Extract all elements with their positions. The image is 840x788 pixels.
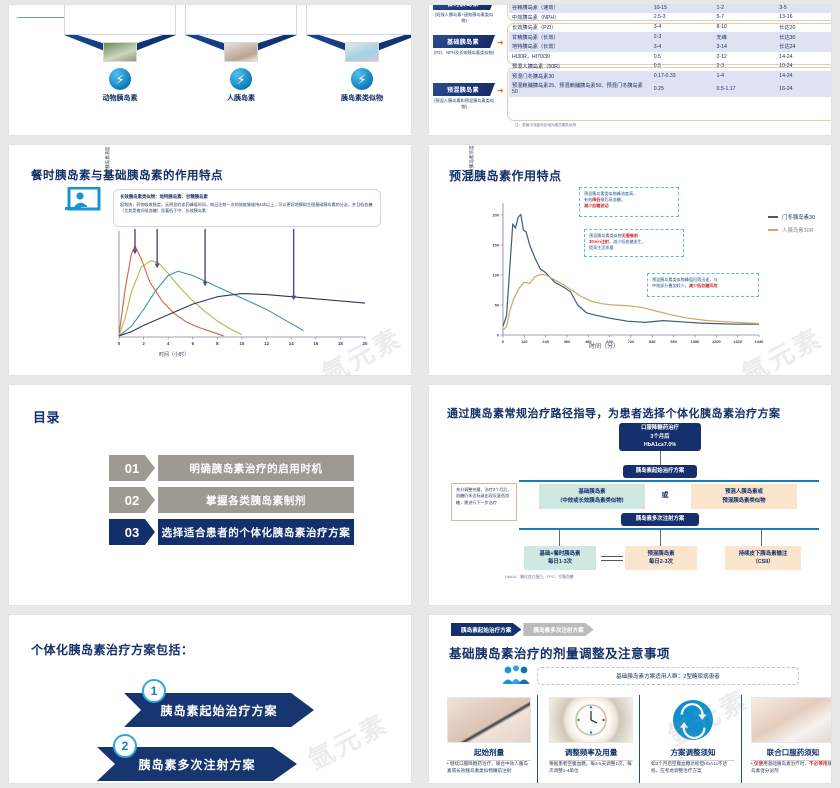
svg-text:1320: 1320 bbox=[733, 339, 742, 344]
page-title: 预混胰岛素作用特点 bbox=[449, 167, 562, 184]
table-row: 甘精胰岛素（长效）2-3无峰长达30 bbox=[509, 32, 832, 42]
page-title: 通过胰岛素常规治疗路径指导，为患者选择个体化胰岛素治疗方案 bbox=[447, 407, 832, 421]
cell-duration: 10-24 bbox=[776, 61, 832, 71]
svg-text:720: 720 bbox=[628, 339, 635, 344]
cell-duration: 长达20 bbox=[776, 22, 832, 32]
chart-x-label: 时间（小时） bbox=[159, 351, 189, 358]
column-body-4: • 仅使用基础胰岛素治疗时，不必停用胰岛素促分泌剂 bbox=[751, 761, 832, 775]
flow-top-line1: 口服降糖药治疗 bbox=[641, 424, 679, 432]
callout-body: 起效快，药物吸收稳定，无明显的血药峰值时间，每日注射一次的效能够维持24h以上，… bbox=[120, 202, 374, 215]
connector bbox=[559, 528, 560, 546]
cell-onset: 0.5 bbox=[651, 52, 714, 62]
photo-human-insulin bbox=[224, 42, 258, 62]
population-banner: 基础胰岛素方案适用人群：2型糖尿病患者 bbox=[537, 667, 799, 685]
flow-top-line3: HbA1c≥7.0% bbox=[644, 441, 676, 449]
svg-text:1200: 1200 bbox=[712, 339, 721, 344]
chart-y-label: 血清胰岛素浓度（pmol/L） bbox=[469, 144, 475, 205]
photo-analog-insulin bbox=[345, 42, 379, 62]
slide-individualized-plans[interactable]: 个体化胰岛素治疗方案包括： 胰岛素起始治疗方案 1 胰岛素多次注射方案 2 氩元… bbox=[8, 614, 412, 784]
clock-icon bbox=[574, 703, 608, 737]
svg-text:50: 50 bbox=[495, 303, 499, 308]
slide-toc[interactable]: 目录 01明确胰岛素治疗的启用时机02掌握各类胰岛素制剂03选择适合患者的个体化… bbox=[8, 384, 412, 606]
slide-cell-2[interactable]: 餐时胰岛素 (短效人胰岛素+速效胰岛素类似物) 基础胰岛素 (PZI、NPH及长… bbox=[420, 0, 840, 140]
opt-line1: 基础胰岛素 bbox=[579, 488, 606, 496]
cell-peak: 8-10 bbox=[714, 22, 777, 32]
tab-multi-injection-plan[interactable]: 胰岛素多次注射方案 bbox=[523, 623, 593, 636]
label-animal-insulin: 动物胰岛素 bbox=[64, 93, 176, 103]
callout-3: 预混胰岛素类似物峰值回落迅速，与中效部分叠加较少，减少低血糖风险 bbox=[647, 273, 759, 297]
svg-text:8: 8 bbox=[216, 341, 219, 346]
table-row: HI30R，HI70/300.52-1214-24 bbox=[509, 52, 832, 62]
svg-text:16: 16 bbox=[313, 341, 318, 346]
cell-onset: 0.5 bbox=[651, 61, 714, 71]
svg-text:2: 2 bbox=[142, 341, 145, 346]
group-tag-prandial: 餐时胰岛素 (短效人胰岛素+速效胰岛素类似物) bbox=[433, 4, 495, 24]
cell-peak: 无峰 bbox=[714, 32, 777, 42]
slide-basal-dose-adjust[interactable]: 胰岛素起始治疗方案 胰岛素多次注射方案 基础胰岛素治疗的剂量调整及注意事项 基础… bbox=[428, 614, 832, 784]
opt-line2: （CSII） bbox=[752, 558, 773, 566]
cell-onset: 0.17-0.33 bbox=[651, 71, 714, 81]
column-heading-1: 起始剂量 bbox=[447, 747, 531, 761]
svg-text:0: 0 bbox=[502, 339, 504, 344]
arrow-right-icon: ➜ bbox=[497, 38, 504, 47]
cell-onset: 2-3 bbox=[651, 32, 714, 42]
svg-text:10: 10 bbox=[240, 341, 245, 346]
cell-duration: 14-24 bbox=[776, 52, 832, 62]
table-row: 预混赖脯胰岛素25、预混赖脯胰岛素50、预混门冬胰岛素500.250.5-1.1… bbox=[509, 81, 832, 97]
label-human-insulin: 人胰岛素 bbox=[185, 93, 297, 103]
lightning-icon: ⚡ bbox=[230, 68, 252, 90]
cell-name: 甘精胰岛素（长效） bbox=[509, 32, 651, 42]
slide-prandial-vs-basal[interactable]: 餐时胰岛素与基础胰岛素的作用特点 长效胰岛素类似物：地特胰岛素、甘精胰岛素 起效… bbox=[8, 144, 412, 376]
column-heading-3: 方案调整须知 bbox=[651, 747, 735, 761]
flow-top-box: 口服降糖药治疗 3个月后 HbA1c≥7.0% bbox=[619, 423, 701, 451]
cell-duration: 长达24 bbox=[776, 42, 832, 52]
column-body-2: 根据患者空腹血糖，每3-5天调整1次，每次调整1-4单位 bbox=[549, 761, 633, 775]
svg-text:12: 12 bbox=[264, 341, 269, 346]
slide-insulin-types[interactable]: 不足： 不足： 有可能产生过敏反应或产生抗体后药效降低 吸收速度更快，作用时间更… bbox=[8, 4, 412, 136]
callout-2: 预混胰岛素类似物无需餐前30min注射，减少低血糖发生，提高生活质量 bbox=[584, 229, 684, 257]
group-tag-label: 预混胰岛素 bbox=[433, 83, 495, 96]
photo-animal-insulin bbox=[103, 42, 137, 62]
slide-cell-5[interactable]: 目录 01明确胰岛素治疗的启用时机02掌握各类胰岛素制剂03选择适合患者的个体化… bbox=[0, 380, 420, 610]
svg-text:0: 0 bbox=[118, 341, 121, 346]
flow-top-line2: 3个月后 bbox=[650, 433, 669, 441]
toc-item-number: 02 bbox=[109, 487, 155, 513]
toc-item-number: 01 bbox=[109, 455, 155, 481]
slide-grid: 不足： 不足： 有可能产生过敏反应或产生抗体后药效降低 吸收速度更快，作用时间更… bbox=[0, 0, 840, 788]
opt-line1: 基础+餐时胰岛素 bbox=[540, 550, 581, 558]
svg-text:960: 960 bbox=[670, 339, 677, 344]
group-tag-label: 基础胰岛素 bbox=[433, 35, 495, 48]
toc-item-number: 03 bbox=[109, 519, 155, 545]
column-heading-4: 联合口服药须知 bbox=[751, 747, 832, 761]
slide-cell-4[interactable]: 预混胰岛素作用特点 012024036048060072084096010801… bbox=[420, 140, 840, 380]
callout-box: 长效胰岛素类似物：地特胰岛素、甘精胰岛素 起效快，药物吸收稳定，无明显的血药峰值… bbox=[113, 189, 381, 227]
svg-text:360: 360 bbox=[564, 339, 571, 344]
slide-cell-8[interactable]: 胰岛素起始治疗方案 胰岛素多次注射方案 基础胰岛素治疗的剂量调整及注意事项 基础… bbox=[420, 610, 840, 788]
connector bbox=[660, 451, 661, 465]
toc-list: 01明确胰岛素治疗的启用时机02掌握各类胰岛素制剂03选择适合患者的个体化胰岛素… bbox=[109, 455, 354, 551]
cell-peak: 2-12 bbox=[714, 52, 777, 62]
toc-item[interactable]: 01明确胰岛素治疗的启用时机 bbox=[109, 455, 354, 481]
svg-text:200: 200 bbox=[493, 213, 500, 218]
lightning-icon: ⚡ bbox=[109, 68, 131, 90]
cell-onset: 0.25 bbox=[651, 81, 714, 97]
insulin-table: 赖脯胰岛素（速效）10-151-1.53-5谷赖胰岛素（速效）10-151-23… bbox=[509, 4, 832, 97]
svg-text:0: 0 bbox=[497, 333, 499, 338]
label-analog-insulin: 胰岛素类似物 bbox=[306, 93, 412, 103]
presentation-person-icon bbox=[65, 187, 101, 217]
legend-item: 门冬胰岛素30 bbox=[768, 213, 815, 221]
legend-label: 门冬胰岛素30 bbox=[782, 213, 815, 221]
table-footnote: 注：表格中浅蓝色区域为胰岛素类似物 bbox=[515, 123, 576, 128]
opt-line1: 持续皮下胰岛素输注 bbox=[739, 550, 788, 558]
svg-text:14: 14 bbox=[289, 341, 294, 346]
cell-duration: 13-16 bbox=[776, 13, 832, 23]
lightning-icon: ⚡ bbox=[351, 68, 373, 90]
column-body-3: 如3个月后空腹血糖达标但HbA1c不达标，应考虑调整治疗方案 bbox=[651, 761, 735, 775]
callout-title: 长效胰岛素类似物：地特胰岛素、甘精胰岛素 bbox=[120, 194, 374, 200]
legend-item: 人胰岛素30R bbox=[768, 226, 815, 234]
flow-rule-1 bbox=[519, 480, 819, 482]
flow-option-csii: 持续皮下胰岛素输注 （CSII） bbox=[725, 546, 801, 570]
group-tag-sub: (预混人胰岛素和预混胰岛素类似物) bbox=[433, 98, 495, 110]
flow-footnote: HbA1c：糖化血红蛋白，FPG：空腹血糖 bbox=[505, 575, 574, 580]
cell-duration: 3-5 bbox=[776, 4, 832, 13]
cell-onset: 2.5-3 bbox=[651, 13, 714, 23]
cell-name: 谷赖胰岛素（速效） bbox=[509, 4, 651, 13]
flow-stage2-label: 胰岛素多次注射方案 bbox=[621, 513, 699, 526]
cell-peak: 1-4 bbox=[714, 71, 777, 81]
watermark: 氩元素 bbox=[300, 704, 394, 778]
table-row: 中效胰岛素（NPH）2.5-35-713-16 bbox=[509, 13, 832, 23]
arrow-right-icon: ➜ bbox=[497, 86, 504, 95]
chart-x-label: 时间（分） bbox=[589, 341, 619, 350]
group-tag-sub: (短效人胰岛素+速效胰岛素类似物) bbox=[433, 12, 495, 24]
callout-1: 预混胰岛素类似物峰浓度高，有效降低餐后高血糖，减少血糖波动 bbox=[579, 187, 679, 217]
clock-photo bbox=[549, 697, 633, 743]
card-body-1: 不足： 不足： 有可能产生过敏反应或产生抗体后药效降低 bbox=[64, 4, 176, 35]
toc-item-label: 选择适合患者的个体化胰岛素治疗方案 bbox=[158, 519, 354, 545]
flow-option-premix: 预混人胰岛素或 预混胰岛素类似物 bbox=[691, 484, 797, 509]
opt-line2: 每日1-3次 bbox=[548, 558, 572, 566]
opt-line2: 每日2-3次 bbox=[649, 558, 673, 566]
group-tag-basal: 基础胰岛素 (PZI、NPH及长效胰岛素类似物) bbox=[433, 35, 495, 56]
connector bbox=[761, 528, 762, 546]
cell-peak: 2-3 bbox=[714, 61, 777, 71]
svg-text:840: 840 bbox=[649, 339, 656, 344]
flow-or: 或 bbox=[653, 484, 677, 509]
group-tag-sub: (PZI、NPH及长效胰岛素类似物) bbox=[433, 50, 495, 56]
pill-taking-photo bbox=[751, 697, 832, 743]
table-row: 预混门冬胰岛素300.17-0.331-414-24 bbox=[509, 71, 832, 81]
toc-item-label: 明确胰岛素治疗的启用时机 bbox=[158, 455, 354, 481]
cell-peak: 1-2 bbox=[714, 4, 777, 13]
table-row: 谷赖胰岛素（速效）10-151-23-5 bbox=[509, 4, 832, 13]
refresh-cycle-icon bbox=[651, 697, 735, 743]
table-row: 预混人胰岛素（50R）0.52-310-24 bbox=[509, 61, 832, 71]
cell-name: 中效胰岛素（NPH） bbox=[509, 13, 651, 23]
slide-cell-3[interactable]: 餐时胰岛素与基础胰岛素的作用特点 长效胰岛素类似物：地特胰岛素、甘精胰岛素 起效… bbox=[0, 140, 420, 380]
slide-cell-6[interactable]: 通过胰岛素常规治疗路径指导，为患者选择个体化胰岛素治疗方案 口服降糖药治疗 3个… bbox=[420, 380, 840, 610]
toc-item[interactable]: 03选择适合患者的个体化胰岛素治疗方案 bbox=[109, 519, 354, 545]
cell-duration: 长达30 bbox=[776, 32, 832, 42]
table-row: 长效胰岛素（PZI）3-48-10长达20 bbox=[509, 22, 832, 32]
svg-text:100: 100 bbox=[493, 273, 500, 278]
cell-name: 长效胰岛素（PZI） bbox=[509, 22, 651, 32]
svg-text:4: 4 bbox=[167, 341, 170, 346]
page-title: 目录 bbox=[33, 407, 60, 426]
column-body-1: • 继续口服降糖药治疗，联合中效人胰岛素或长效胰岛素类似物睡前注射 bbox=[447, 761, 531, 775]
cell-onset: 10-15 bbox=[651, 4, 714, 13]
slide-premix-profile[interactable]: 预混胰岛素作用特点 012024036048060072084096010801… bbox=[428, 144, 832, 376]
cell-peak: 5-7 bbox=[714, 13, 777, 23]
group-tag-label: 餐时胰岛素 bbox=[433, 4, 495, 10]
svg-text:18: 18 bbox=[338, 341, 343, 346]
cell-onset: 3-4 bbox=[651, 42, 714, 52]
chart-y-label: 相对胰岛素浓度 bbox=[105, 144, 111, 207]
toc-item[interactable]: 02掌握各类胰岛素制剂 bbox=[109, 487, 354, 513]
slide-insulin-table[interactable]: 餐时胰岛素 (短效人胰岛素+速效胰岛素类似物) 基础胰岛素 (PZI、NPH及长… bbox=[428, 4, 832, 136]
column-divider bbox=[741, 695, 742, 783]
svg-text:20: 20 bbox=[363, 341, 368, 346]
slide-cell-1[interactable]: 不足： 不足： 有可能产生过敏反应或产生抗体后药效降低 吸收速度更快，作用时间更… bbox=[0, 0, 420, 140]
opt-line2: （中效或长效胰岛素类似物） bbox=[557, 497, 627, 505]
cell-peak: 3-14 bbox=[714, 42, 777, 52]
insulin-pen-photo bbox=[447, 697, 531, 743]
svg-text:120: 120 bbox=[521, 339, 528, 344]
table-row: 地特胰岛素（长效）3-43-14长达24 bbox=[509, 42, 832, 52]
legend-label: 人胰岛素30R bbox=[782, 226, 813, 234]
group-tag-premix: 预混胰岛素 (预混人胰岛素和预混胰岛素类似物) bbox=[433, 83, 495, 110]
decor-line-left bbox=[17, 17, 65, 18]
svg-text:1440: 1440 bbox=[755, 339, 764, 344]
svg-text:1080: 1080 bbox=[691, 339, 700, 344]
legend-swatch bbox=[768, 216, 778, 218]
cell-name: 地特胰岛素（长效） bbox=[509, 42, 651, 52]
opt-line1: 预混胰岛素 bbox=[648, 550, 675, 558]
tab-initial-plan[interactable]: 胰岛素起始治疗方案 bbox=[451, 623, 521, 636]
flow-stage1-label: 胰岛素起始治疗方案 bbox=[623, 465, 697, 478]
cell-duration: 14-24 bbox=[776, 71, 832, 81]
column-divider bbox=[537, 695, 538, 783]
opt-line1: 预混人胰岛素或 bbox=[725, 488, 763, 496]
cell-name: 预混赖脯胰岛素25、预混赖脯胰岛素50、预混门冬胰岛素50 bbox=[509, 81, 651, 97]
flow-option-premix-daily: 预混胰岛素 每日2-3次 bbox=[625, 546, 697, 570]
people-group-icon bbox=[501, 665, 531, 685]
page-title: 个体化胰岛素治疗方案包括： bbox=[31, 641, 194, 658]
cell-name: 预混人胰岛素（50R） bbox=[509, 61, 651, 71]
cell-name: HI30R，HI70/30 bbox=[509, 52, 651, 62]
cell-onset: 3-4 bbox=[651, 22, 714, 32]
tab-bar[interactable]: 胰岛素起始治疗方案 胰岛素多次注射方案 bbox=[451, 623, 594, 636]
cell-peak: 0.5-1.17 bbox=[714, 81, 777, 97]
flow-option-basal: 基础胰岛素 （中效或长效胰岛素类似物） bbox=[539, 484, 645, 509]
page-title: 基础胰岛素治疗的剂量调整及注意事项 bbox=[449, 643, 670, 662]
double-arrow-icon bbox=[601, 555, 623, 561]
opt-line2: 预混胰岛素类似物 bbox=[722, 497, 765, 505]
slide-cell-7[interactable]: 个体化胰岛素治疗方案包括： 胰岛素起始治疗方案 1 胰岛素多次注射方案 2 氩元… bbox=[0, 610, 420, 788]
cell-duration: 16-24 bbox=[776, 81, 832, 97]
card-body-2: 吸收速度更快，作用时间更短 不足： 不能更好模拟生理性胰岛素分泌 易导致血糖波动… bbox=[185, 4, 297, 35]
column-divider bbox=[639, 695, 640, 783]
svg-text:150: 150 bbox=[493, 243, 500, 248]
column-heading-2: 调整频率及用量 bbox=[549, 747, 633, 761]
legend-swatch bbox=[768, 229, 778, 231]
chart-legend: 门冬胰岛素30 人胰岛素30R bbox=[768, 213, 815, 234]
svg-text:240: 240 bbox=[542, 339, 549, 344]
slide-treatment-path[interactable]: 通过胰岛素常规治疗路径指导，为患者选择个体化胰岛素治疗方案 口服降糖药治疗 3个… bbox=[428, 384, 832, 606]
card-body-3: 优于人胰岛素 不足： 相对于动物胰岛素与人胰岛素价格昂贵 bbox=[306, 4, 412, 35]
side-note: 充分调整剂量，治疗3个月后，血糖仍未达标或出现反复低血糖，需进行下一步治疗 bbox=[451, 483, 517, 521]
plan-number-1: 1 bbox=[142, 679, 166, 703]
page-title: 餐时胰岛素与基础胰岛素的作用特点 bbox=[31, 167, 223, 183]
flow-option-basal-bolus: 基础+餐时胰岛素 每日1-3次 bbox=[524, 546, 596, 570]
svg-text:6: 6 bbox=[192, 341, 195, 346]
toc-item-label: 掌握各类胰岛素制剂 bbox=[158, 487, 354, 513]
insulin-profile-chart: 02468101214161820 bbox=[105, 227, 371, 353]
cell-name: 预混门冬胰岛素30 bbox=[509, 71, 651, 81]
plan-number-2: 2 bbox=[113, 734, 137, 758]
connector bbox=[660, 528, 661, 546]
flow-rule-2 bbox=[519, 528, 819, 530]
